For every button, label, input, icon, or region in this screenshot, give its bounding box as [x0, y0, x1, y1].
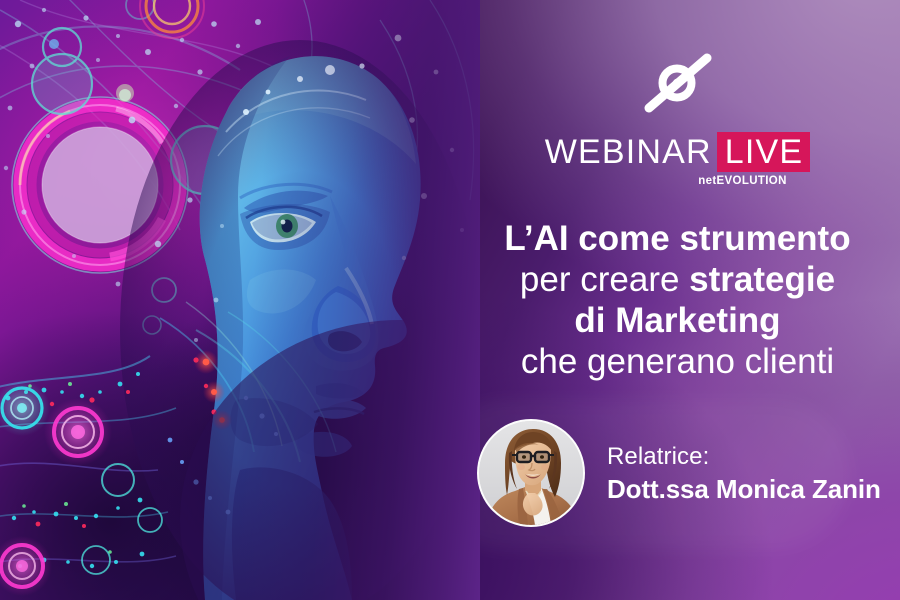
avatar — [477, 419, 585, 527]
live-badge: LIVE — [717, 132, 811, 172]
webinar-label: WEBINAR — [545, 132, 717, 172]
speaker-role: Relatrice: — [607, 441, 881, 472]
orbit-slash-logo-icon — [641, 52, 715, 114]
speaker-block: Relatrice: Dott.ssa Monica Zanin — [477, 419, 881, 527]
live-label: LIVE — [725, 132, 804, 172]
headline-line-2-bold: strategie — [689, 260, 835, 299]
brand-block: WEBINAR LIVE netEVOLUTION — [455, 52, 900, 187]
headline-line-2: per creare strategie — [455, 259, 900, 300]
headline: L’AI come strumento per creare strategie… — [455, 218, 900, 382]
headline-line-2-regular: per creare — [520, 260, 689, 299]
speaker-text: Relatrice: Dott.ssa Monica Zanin — [607, 441, 881, 506]
brand-wordmark: WEBINAR LIVE — [545, 132, 811, 172]
poster-content: WEBINAR LIVE netEVOLUTION L’AI come stru… — [455, 0, 900, 600]
speaker-portrait-avatar — [479, 421, 583, 525]
company-name: netEVOLUTION — [455, 175, 900, 187]
headline-line-1: L’AI come strumento — [455, 218, 900, 259]
webinar-poster: WEBINAR LIVE netEVOLUTION L’AI come stru… — [0, 0, 900, 600]
speaker-name: Dott.ssa Monica Zanin — [607, 473, 881, 506]
headline-line-3: di Marketing — [455, 300, 900, 341]
headline-line-4: che generano clienti — [455, 341, 900, 382]
ai-face-artwork — [0, 0, 480, 600]
